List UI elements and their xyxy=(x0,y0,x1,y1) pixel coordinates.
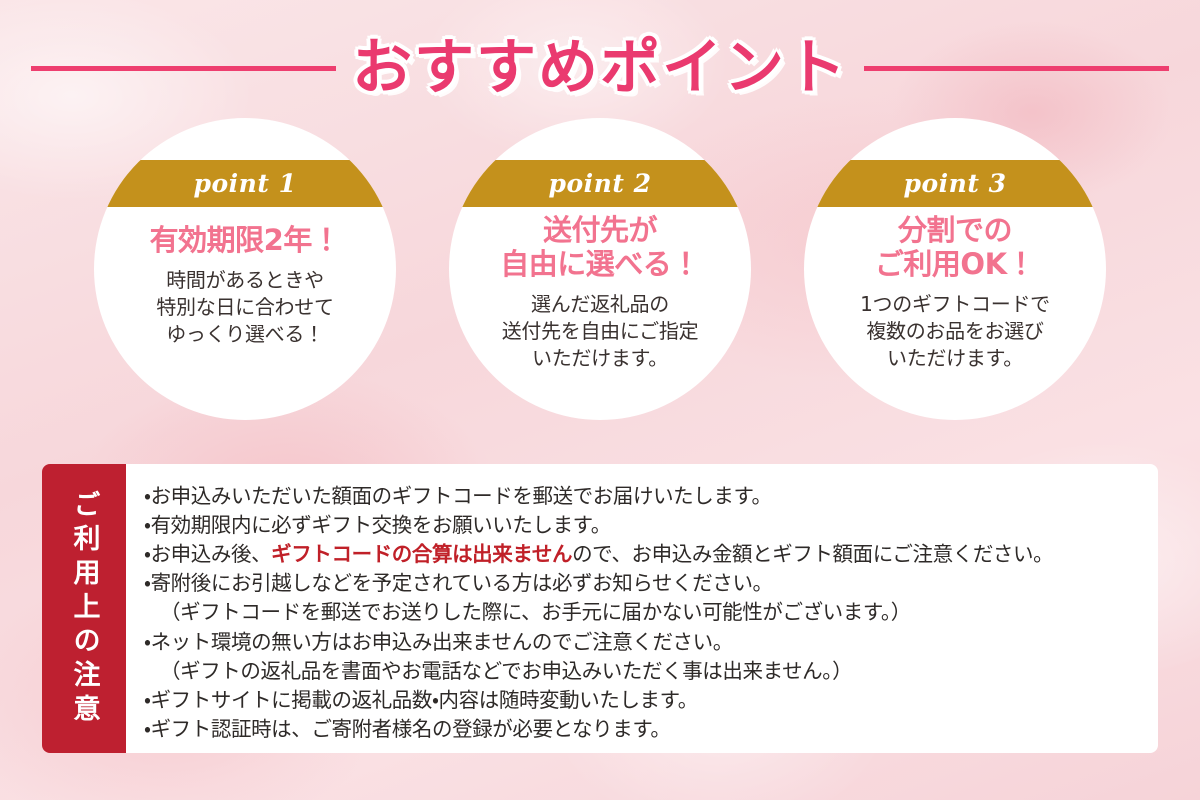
notice-line: ・寄附後にお引越しなどを予定されている方は必ずお知らせください。 xyxy=(144,569,1142,598)
notice-text: ・お申込み後、 xyxy=(144,542,271,566)
notice-line: ・お申込みいただいた額面のギフトコードを郵送でお届けいたします。 xyxy=(144,482,1142,511)
notice-tab: ご利用上の注意 xyxy=(42,464,126,753)
notice-line: ・有効期限内に必ずギフト交換をお願いいたします。 xyxy=(144,511,1142,540)
point-content-3: 分割での ご利用OK！ 1つのギフトコードで 複数のお品をお選び いただけます。 xyxy=(804,207,1106,420)
point-circle-1: point 1 有効期限2年！ 時間があるときや 特別な日に合わせて ゆっくり選… xyxy=(94,118,396,420)
notice-line: ・お申込み後、ギフトコードの合算は出来ませんので、お申込み金額とギフト額面にご注… xyxy=(144,540,1142,569)
page-title: おすすめポイント xyxy=(352,38,848,98)
point-description: 時間があるときや 特別な日に合わせて ゆっくり選べる！ xyxy=(156,267,333,348)
promo-banner: おすすめポイント point 1 有効期限2年！ 時間があるときや 特別な日に合… xyxy=(0,0,1200,800)
point-badge-1: point 1 xyxy=(94,160,396,207)
notice-line: ・ギフトサイトに掲載の返礼品数・内容は随時変動いたします。 xyxy=(144,686,1142,715)
point-content-1: 有効期限2年！ 時間があるときや 特別な日に合わせて ゆっくり選べる！ xyxy=(94,207,396,420)
point-badge-2: point 2 xyxy=(449,160,751,207)
notice-line: （ギフトの返礼品を書面やお電話などでお申込みいただく事は出来ません。） xyxy=(144,657,1142,686)
point-content-2: 送付先が 自由に選べる！ 選んだ返礼品の 送付先を自由にご指定 いただけます。 xyxy=(449,207,751,420)
header: おすすめポイント xyxy=(0,22,1200,114)
usage-notice-panel: ご利用上の注意 ・お申込みいただいた額面のギフトコードを郵送でお届けいたします。… xyxy=(42,464,1158,753)
point-circle-3: point 3 分割での ご利用OK！ 1つのギフトコードで 複数のお品をお選び… xyxy=(804,118,1106,420)
notice-line: （ギフトコードを郵送でお送りした際に、お手元に届かない可能性がございます。） xyxy=(144,598,1142,627)
point-badge-label: point 2 xyxy=(549,171,652,196)
point-description: 選んだ返礼品の 送付先を自由にご指定 いただけます。 xyxy=(502,291,699,372)
point-badge-3: point 3 xyxy=(804,160,1106,207)
notice-list: ・お申込みいただいた額面のギフトコードを郵送でお届けいたします。・有効期限内に必… xyxy=(126,464,1158,753)
point-heading: 送付先が 自由に選べる！ xyxy=(500,213,700,281)
point-badge-label: point 3 xyxy=(904,171,1007,196)
title-rule-left xyxy=(31,66,336,71)
point-heading: 分割での ご利用OK！ xyxy=(875,213,1035,281)
notice-line: ・ネット環境の無い方はお申込み出来ませんのでご注意ください。 xyxy=(144,628,1142,657)
point-circle-2: point 2 送付先が 自由に選べる！ 選んだ返礼品の 送付先を自由にご指定 … xyxy=(449,118,751,420)
notice-line: ・ギフト認証時は、ご寄附者様名の登録が必要となります。 xyxy=(144,715,1142,744)
notice-emphasis: ギフトコードの合算は出来ません xyxy=(271,542,572,566)
point-heading: 有効期限2年！ xyxy=(150,223,341,257)
notice-tab-label: ご利用上の注意 xyxy=(71,490,98,728)
title-rule-right xyxy=(864,66,1169,71)
notice-text: ので、お申込み金額とギフト額面にご注意ください。 xyxy=(572,542,1053,566)
point-badge-label: point 1 xyxy=(194,171,297,196)
point-description: 1つのギフトコードで 複数のお品をお選び いただけます。 xyxy=(860,291,1050,372)
